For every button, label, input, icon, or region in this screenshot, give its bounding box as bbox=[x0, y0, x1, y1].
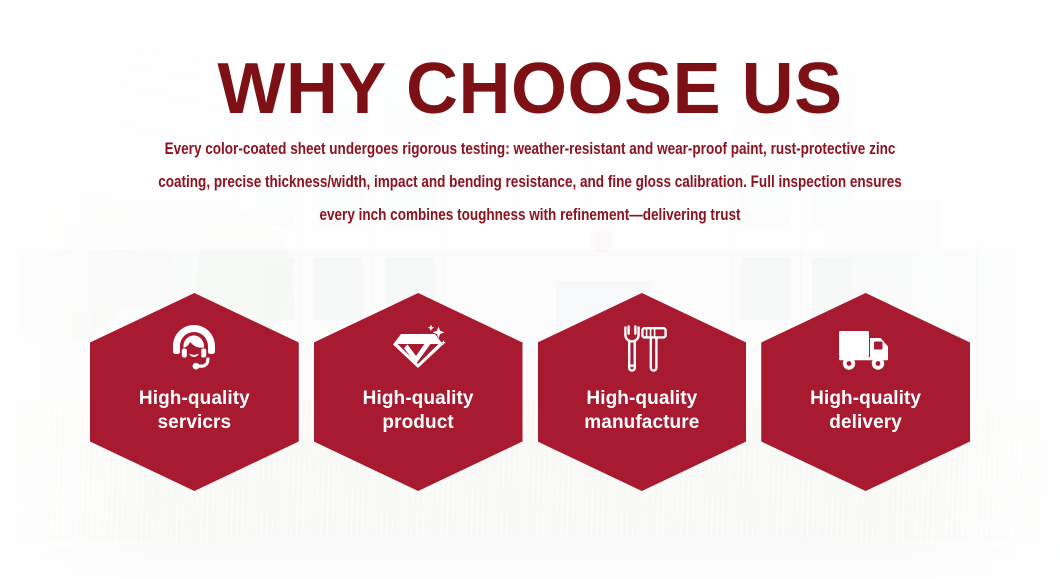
why-choose-us-banner: WHY CHOOSE US Every color-coated sheet u… bbox=[0, 0, 1060, 579]
feature-label-line1: High-quality bbox=[139, 388, 250, 409]
delivery-truck-icon bbox=[835, 321, 897, 377]
feature-label-line2: product bbox=[382, 412, 453, 433]
diamond-sparkle-icon bbox=[387, 321, 449, 377]
page-title: WHY CHOOSE US bbox=[0, 52, 1060, 126]
headset-support-icon bbox=[163, 321, 225, 377]
feature-label-line1: High-quality bbox=[810, 388, 921, 409]
feature-label: High-quality manufacture bbox=[572, 387, 711, 435]
feature-label-line1: High-quality bbox=[363, 388, 474, 409]
feature-card-services[interactable]: High-quality servicrs bbox=[90, 293, 299, 491]
feature-label: High-quality product bbox=[351, 387, 486, 435]
feature-card-delivery[interactable]: High-quality delivery bbox=[761, 293, 970, 491]
banner-content: WHY CHOOSE US Every color-coated sheet u… bbox=[0, 0, 1060, 579]
feature-hexagon-row: High-quality servicrs bbox=[90, 293, 970, 491]
feature-card-manufacture[interactable]: High-quality manufacture bbox=[538, 293, 747, 491]
feature-label-line2: servicrs bbox=[158, 412, 232, 433]
banner-description: Every color-coated sheet undergoes rigor… bbox=[158, 133, 903, 232]
feature-label-line2: delivery bbox=[829, 412, 902, 433]
feature-label-line2: manufacture bbox=[584, 412, 699, 433]
feature-label-line1: High-quality bbox=[586, 388, 697, 409]
feature-label: High-quality delivery bbox=[798, 387, 933, 435]
wrench-hammer-icon bbox=[611, 321, 673, 377]
feature-card-product[interactable]: High-quality product bbox=[314, 293, 523, 491]
feature-label: High-quality servicrs bbox=[127, 387, 262, 435]
